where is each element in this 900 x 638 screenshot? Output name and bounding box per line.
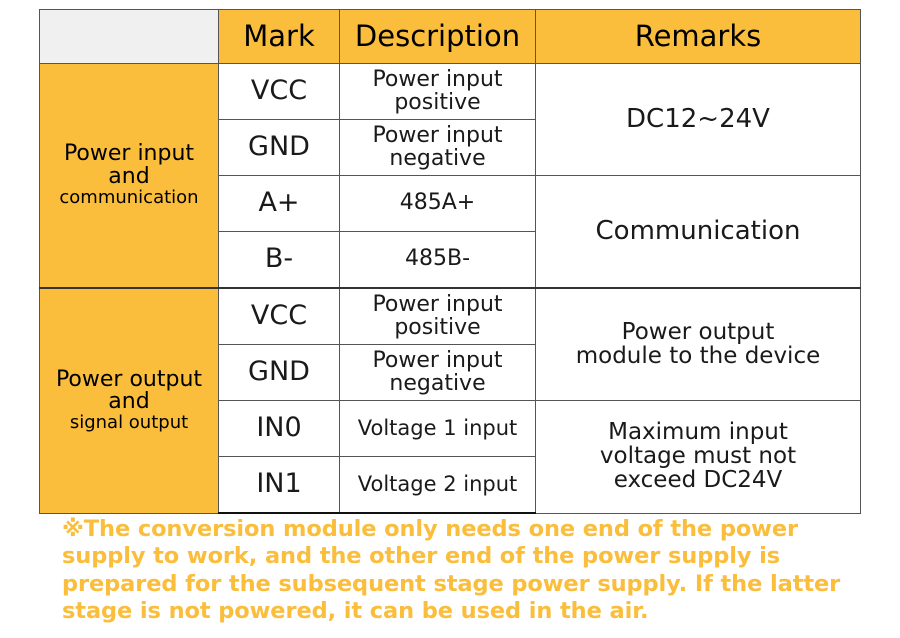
mark-cell: GND <box>219 345 340 401</box>
remark-cell-communication: Communication <box>536 176 861 289</box>
description-line2: negative <box>342 373 533 395</box>
remark-cell-max-voltage: Maximum input voltage must not exceed DC… <box>536 401 861 514</box>
remark-line2: voltage must not <box>538 445 858 469</box>
description-line2: positive <box>342 317 533 339</box>
remark-line2: module to the device <box>538 345 858 369</box>
group-label-line1: Power output <box>42 369 216 392</box>
note-marker-icon: ※ <box>62 516 84 542</box>
group-label-line2: and <box>42 166 216 189</box>
remark-cell-power-output: Power output module to the device <box>536 288 861 401</box>
description-line1: Power input <box>342 350 533 372</box>
mark-cell: IN0 <box>219 401 340 457</box>
mark-cell: GND <box>219 120 340 176</box>
remark-line1: Power output <box>538 321 858 345</box>
header-remarks: Remarks <box>536 10 861 64</box>
description-cell: Power input positive <box>340 64 536 120</box>
mark-cell: A+ <box>219 176 340 232</box>
table-row: Power output and signal output VCC Power… <box>40 288 861 345</box>
table-header-row: Mark Description Remarks <box>40 10 861 64</box>
description-cell: 485A+ <box>340 176 536 232</box>
footer-note: ※The conversion module only needs one en… <box>62 516 862 626</box>
header-blank-cell <box>40 10 219 64</box>
description-line1: Power input <box>342 125 533 147</box>
description-cell: 485B- <box>340 232 536 289</box>
header-description: Description <box>340 10 536 64</box>
description-cell: Voltage 2 input <box>340 457 536 514</box>
group-label-power-input: Power input and communication <box>40 64 219 289</box>
group-label-line3: communication <box>42 189 216 208</box>
mark-cell: VCC <box>219 288 340 345</box>
table-row: Power input and communication VCC Power … <box>40 64 861 120</box>
group-label-power-output: Power output and signal output <box>40 288 219 513</box>
mark-cell: IN1 <box>219 457 340 514</box>
header-mark: Mark <box>219 10 340 64</box>
remark-cell-dc12-24v: DC12~24V <box>536 64 861 176</box>
description-line2: positive <box>342 92 533 114</box>
description-line2: negative <box>342 148 533 170</box>
group-label-line1: Power input <box>42 143 216 166</box>
description-line1: Power input <box>342 294 533 316</box>
group-label-line2: and <box>42 391 216 414</box>
description-line1: Power input <box>342 69 533 91</box>
mark-cell: B- <box>219 232 340 289</box>
remark-line1: Communication <box>538 218 858 245</box>
description-cell: Power input negative <box>340 120 536 176</box>
spec-table-page: Mark Description Remarks Power input and… <box>0 0 900 638</box>
group-label-line3: signal output <box>42 414 216 433</box>
remark-line3: exceed DC24V <box>538 469 858 493</box>
note-text: The conversion module only needs one end… <box>62 516 840 624</box>
description-cell: Voltage 1 input <box>340 401 536 457</box>
description-cell: Power input negative <box>340 345 536 401</box>
description-cell: Power input positive <box>340 288 536 345</box>
remark-line1: DC12~24V <box>538 106 858 133</box>
remark-line1: Maximum input <box>538 421 858 445</box>
pin-definition-table: Mark Description Remarks Power input and… <box>39 9 861 514</box>
mark-cell: VCC <box>219 64 340 120</box>
